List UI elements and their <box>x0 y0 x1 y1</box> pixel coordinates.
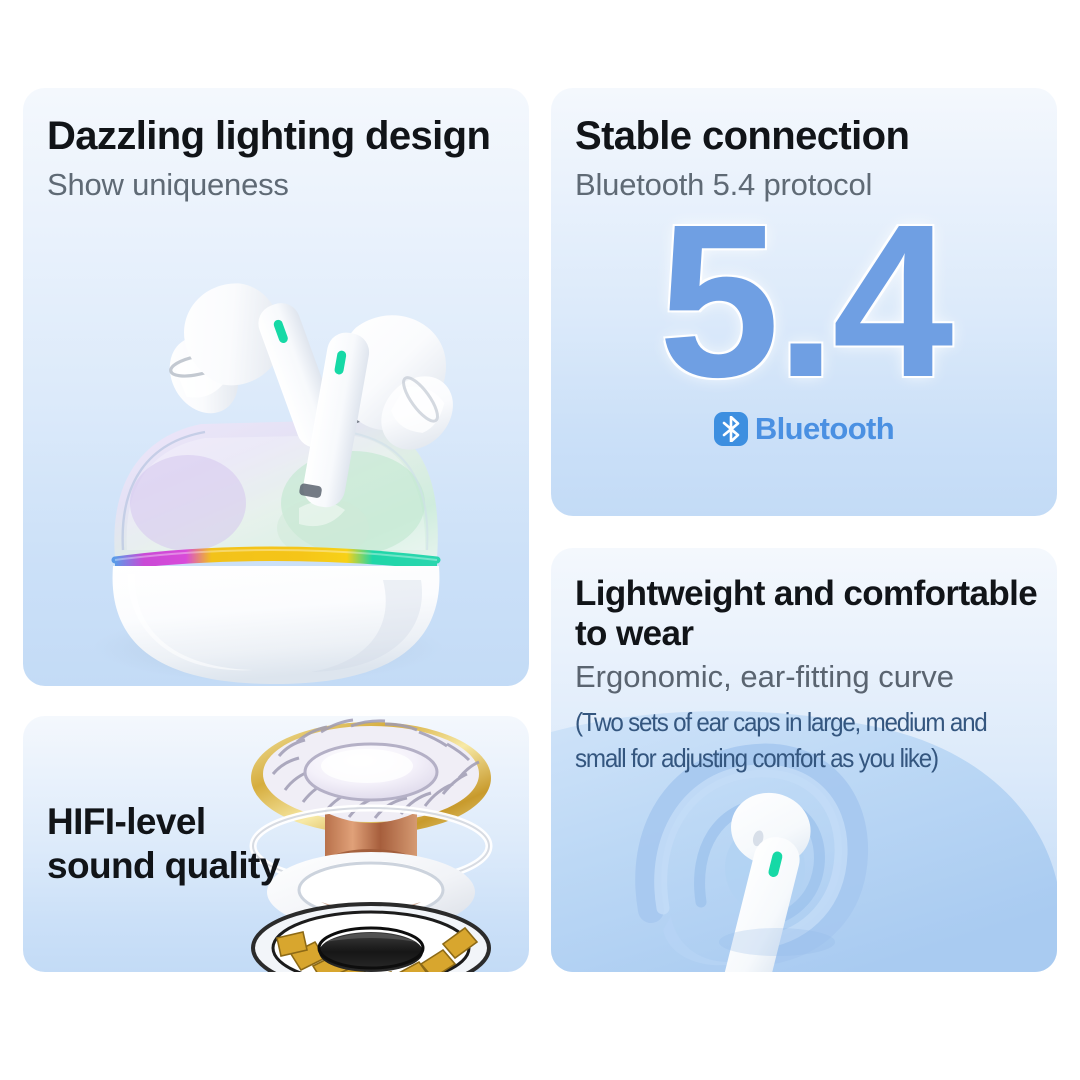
hifi-title: HIFI-level sound quality <box>47 800 280 889</box>
comfort-note-line-2: small for adjusting comfort as you like) <box>575 741 1023 776</box>
panel-hifi-sound-quality: HIFI-level sound quality <box>23 716 529 972</box>
comfort-header: Lightweight and comfortable to wear Ergo… <box>551 548 1057 776</box>
bluetooth-header: Stable connection Bluetooth 5.4 protocol <box>551 88 1057 203</box>
bluetooth-title: Stable connection <box>575 114 1057 160</box>
comfort-note-line-1: (Two sets of ear caps in large, medium a… <box>575 705 1023 740</box>
bluetooth-logo: Bluetooth <box>714 411 894 447</box>
bluetooth-version-art: 5.4 Bluetooth <box>551 208 1057 508</box>
panel-stable-connection: Stable connection Bluetooth 5.4 protocol… <box>551 88 1057 516</box>
bluetooth-icon <box>714 412 748 446</box>
hifi-title-line-1: HIFI-level <box>47 800 280 844</box>
lighting-header: Dazzling lighting design Show uniqueness <box>23 88 529 203</box>
bluetooth-version-number: 5.4 <box>658 208 949 395</box>
comfort-title: Lightweight and comfortable to wear <box>575 574 1057 654</box>
panel-lightweight-comfortable: Lightweight and comfortable to wear Ergo… <box>551 548 1057 972</box>
panel-dazzling-lighting-design: Dazzling lighting design Show uniqueness <box>23 88 529 686</box>
bluetooth-wordmark: Bluetooth <box>755 411 894 447</box>
hifi-title-line-2: sound quality <box>47 844 280 888</box>
comfort-subtitle: Ergonomic, ear-fitting curve <box>575 659 1057 695</box>
lighting-subtitle: Show uniqueness <box>47 166 529 203</box>
bluetooth-subtitle: Bluetooth 5.4 protocol <box>575 166 1057 203</box>
product-infographic: Dazzling lighting design Show uniqueness <box>0 0 1080 1080</box>
lighting-title: Dazzling lighting design <box>47 114 529 160</box>
